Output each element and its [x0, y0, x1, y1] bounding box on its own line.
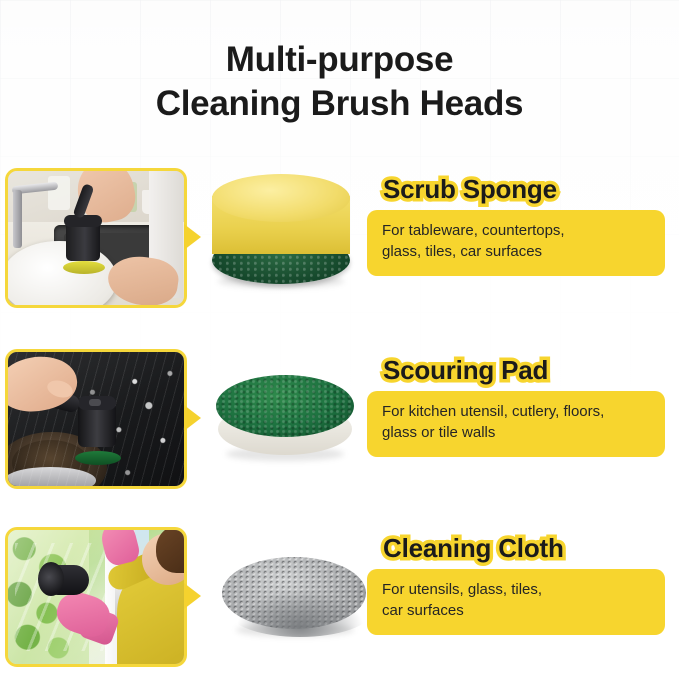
product-image-cleaning-cloth [216, 551, 372, 647]
product-section-scouring-pad: Scouring Pad For kitchen utensil, cutler… [0, 349, 679, 491]
product-description-cleaning-cloth: For utensils, glass, tiles, car surfaces [382, 579, 668, 621]
product-image-scouring-pad [210, 363, 360, 467]
right-arrow-icon [184, 583, 201, 609]
description-line-2: car surfaces [382, 600, 668, 621]
description-line-1: For tableware, countertops, [382, 220, 668, 241]
product-description-scrub-sponge: For tableware, countertops, glass, tiles… [382, 220, 668, 262]
right-arrow-icon [184, 224, 201, 250]
description-line-1: For utensils, glass, tiles, [382, 579, 668, 600]
scene-sink-plate [8, 171, 184, 305]
scene-window-cleaning [8, 530, 184, 664]
use-case-photo-scouring-pad [5, 349, 187, 489]
description-line-2: glass, tiles, car surfaces [382, 241, 668, 262]
description-line-1: For kitchen utensil, cutlery, floors, [382, 401, 668, 422]
use-case-photo-cleaning-cloth [5, 527, 187, 667]
page-title-line-1: Multi-purpose [226, 40, 453, 79]
use-case-photo-scrub-sponge [5, 168, 187, 308]
product-heading-scouring-pad: Scouring Pad [383, 355, 548, 386]
product-heading-scrub-sponge: Scrub Sponge [383, 174, 557, 205]
page-title: Multi-purpose Cleaning Brush Heads [0, 38, 679, 126]
product-heading-cleaning-cloth: Cleaning Cloth [383, 533, 564, 564]
product-section-cleaning-cloth: Cleaning Cloth For utensils, glass, tile… [0, 527, 679, 669]
infographic-page: Multi-purpose Cleaning Brush Heads [0, 0, 679, 692]
product-description-scouring-pad: For kitchen utensil, cutlery, floors, gl… [382, 401, 668, 443]
description-line-2: glass or tile walls [382, 422, 668, 443]
product-image-scrub-sponge [206, 174, 356, 290]
scene-stovetop [8, 352, 184, 486]
product-section-scrub-sponge: Scrub Sponge For tableware, countertops,… [0, 168, 679, 310]
page-title-line-2: Cleaning Brush Heads [0, 82, 679, 126]
right-arrow-icon [184, 405, 201, 431]
